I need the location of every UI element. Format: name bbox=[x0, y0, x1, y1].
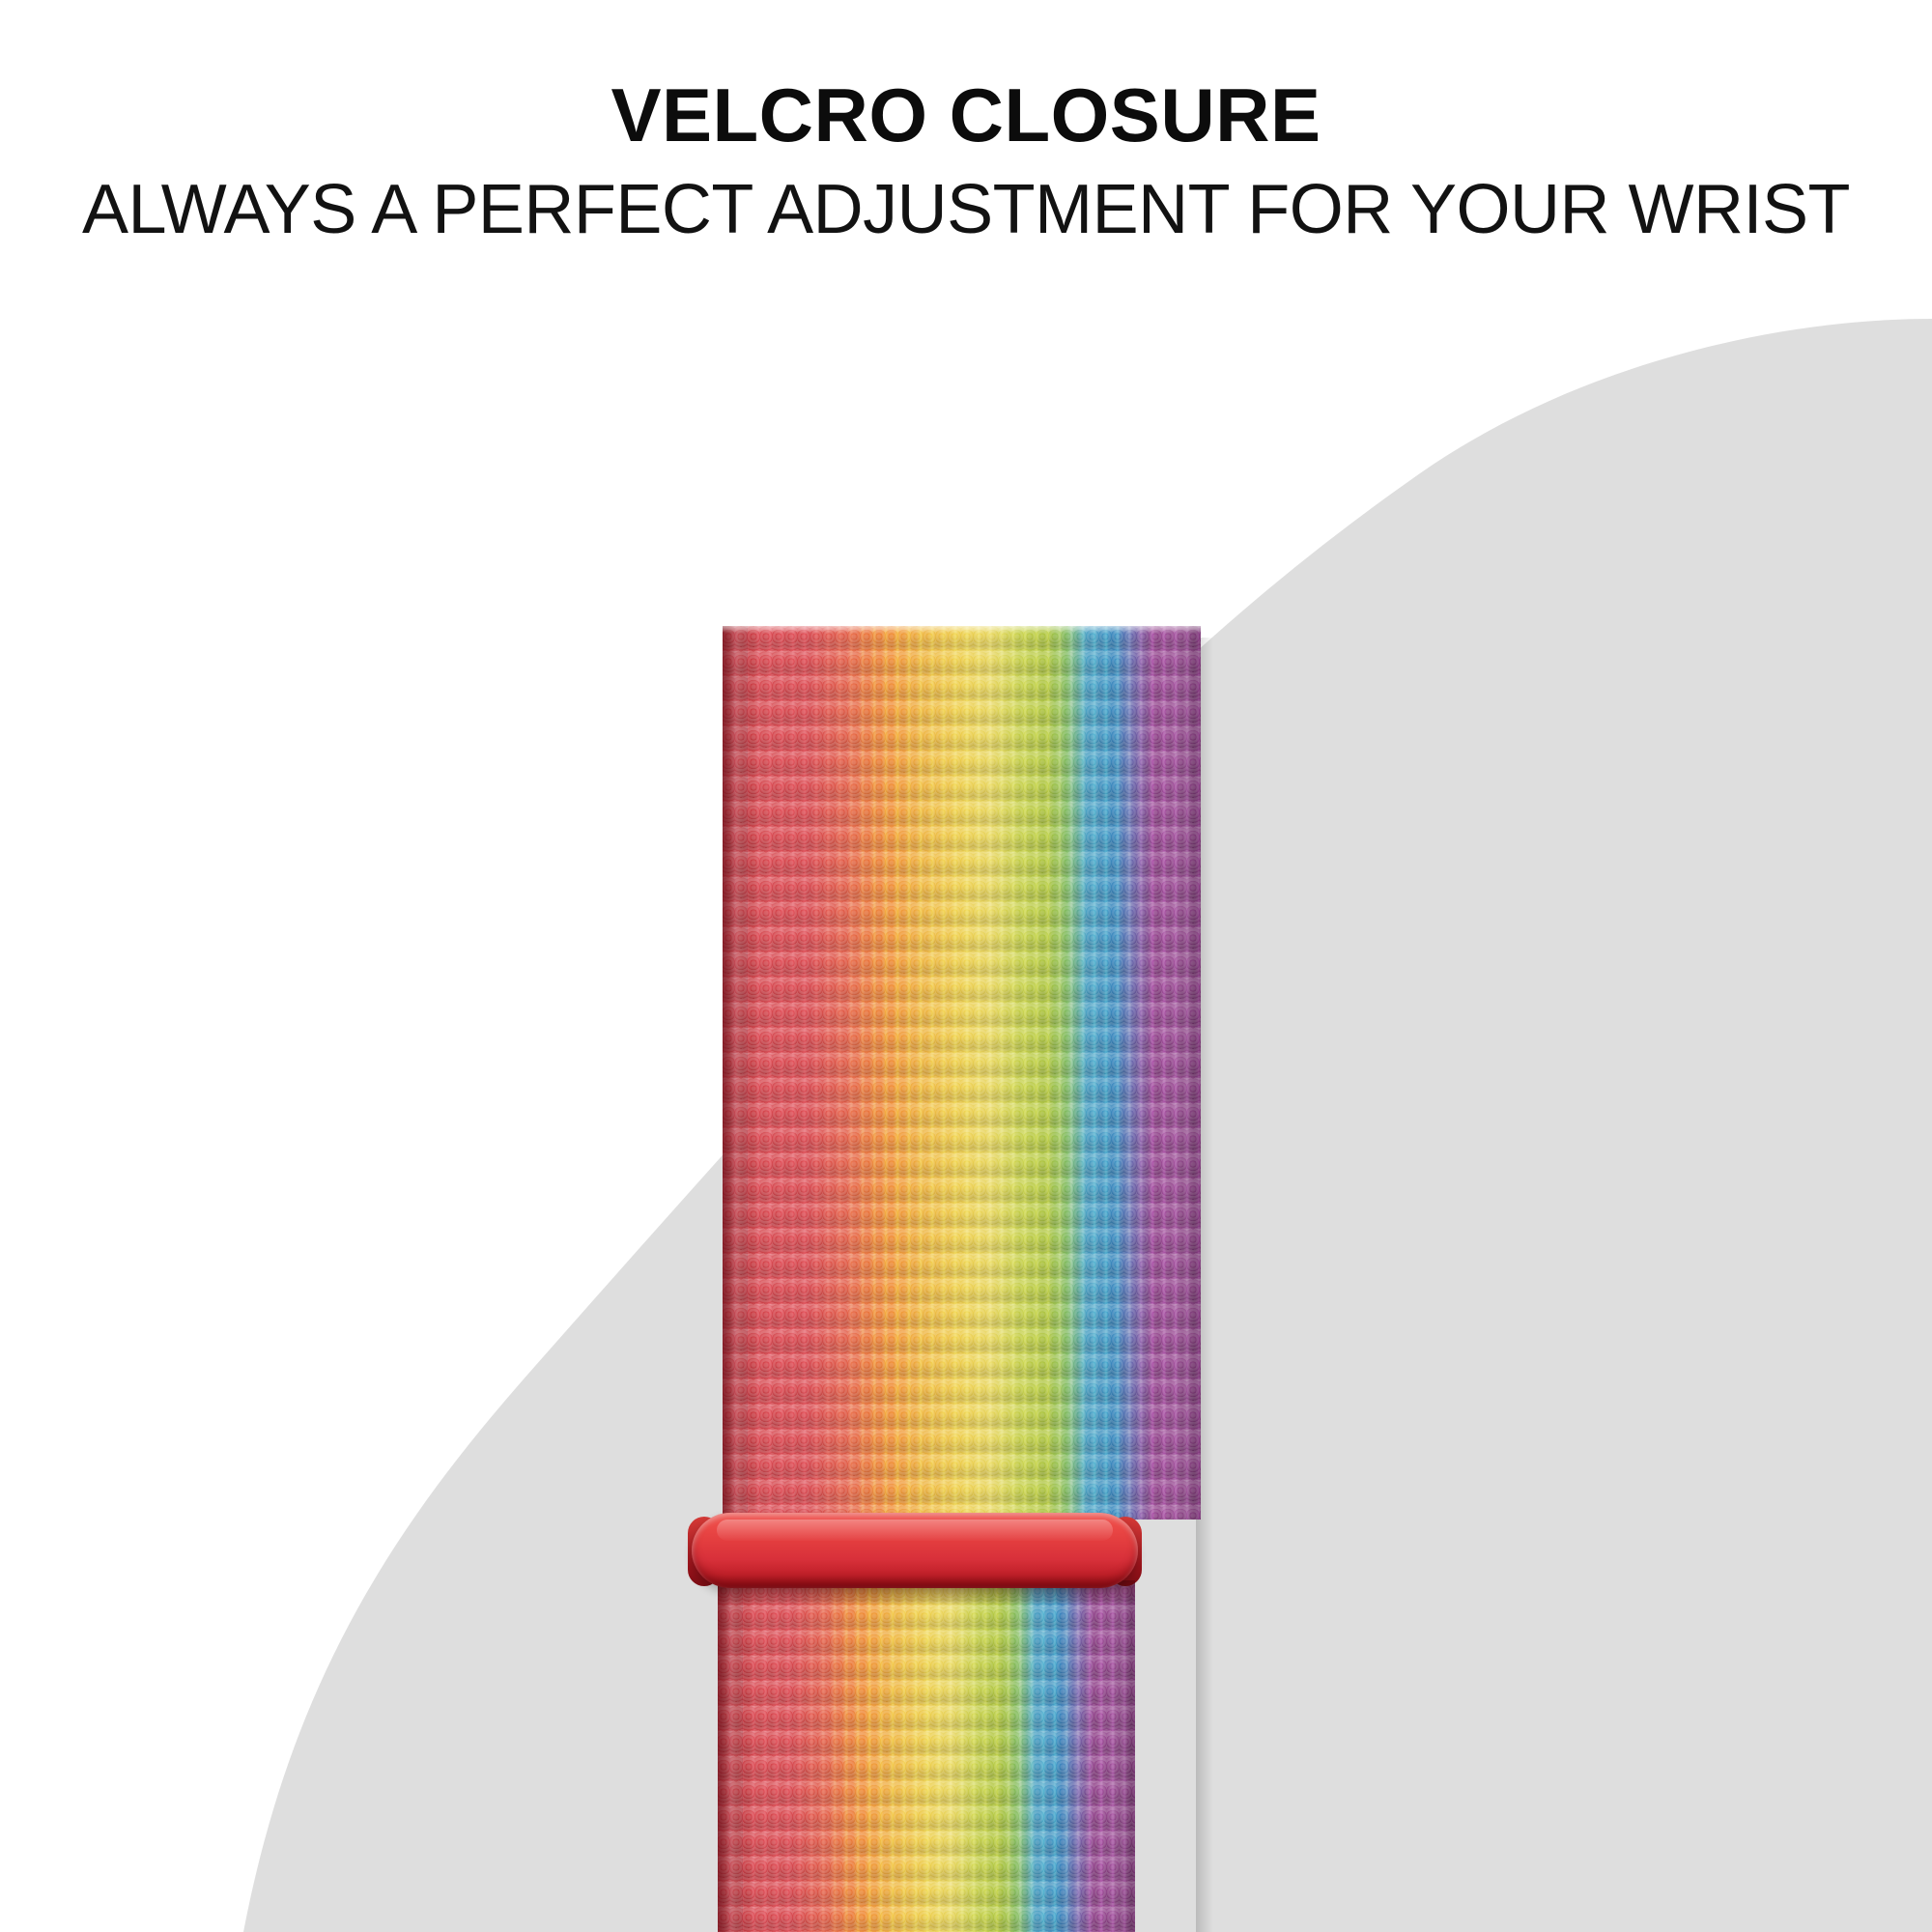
page-subtitle: ALWAYS A PERFECT ADJUSTMENT FOR YOUR WRI… bbox=[0, 155, 1932, 247]
band-upper-top-edge bbox=[723, 626, 1201, 633]
band-upper-shading bbox=[723, 626, 1201, 1520]
band-lower-shading bbox=[718, 1580, 1135, 1932]
band-lower-segment bbox=[718, 1580, 1135, 1932]
headline-block: VELCRO CLOSURE ALWAYS A PERFECT ADJUSTME… bbox=[0, 0, 1932, 247]
product-feature-banner: VELCRO CLOSURE ALWAYS A PERFECT ADJUSTME… bbox=[0, 0, 1932, 1932]
velcro-closure-keeper bbox=[692, 1513, 1138, 1588]
page-title: VELCRO CLOSURE bbox=[0, 0, 1932, 155]
band-lower-fold-edge bbox=[718, 1580, 743, 1932]
band-upper-segment bbox=[723, 626, 1201, 1520]
band-upper-fold-edge bbox=[723, 626, 748, 1520]
